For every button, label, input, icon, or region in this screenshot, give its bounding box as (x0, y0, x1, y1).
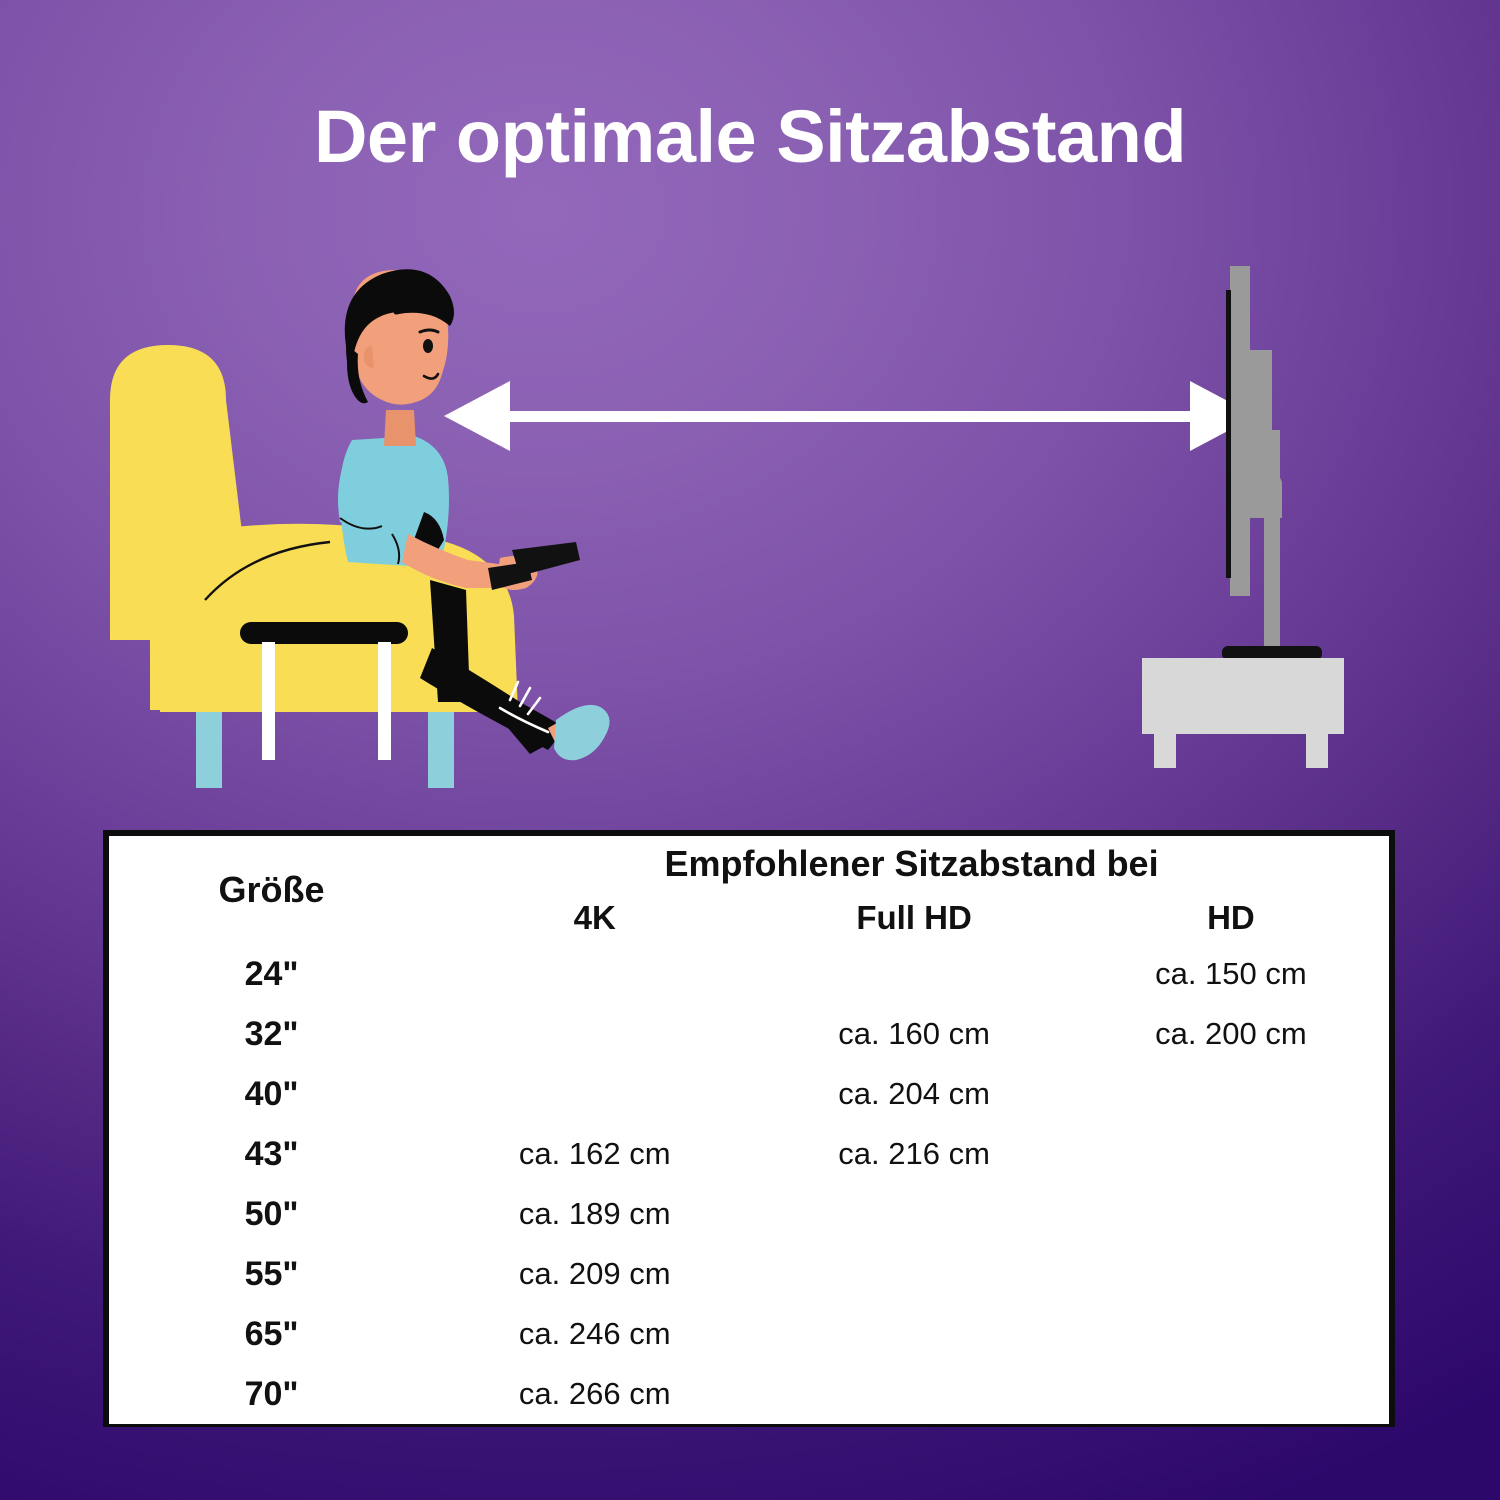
television-side-view (1142, 266, 1344, 768)
cell-fullhd: ca. 204 cm (755, 1064, 1072, 1124)
cell-hd (1073, 1124, 1389, 1184)
table-row: 32" ca. 160 cm ca. 200 cm (109, 1004, 1389, 1064)
header-group: Empfohlener Sitzabstand bei (434, 836, 1389, 892)
table-row: 65" ca. 246 cm (109, 1304, 1389, 1364)
header-hd: HD (1073, 892, 1389, 944)
table-header-group-row: Größe Empfohlener Sitzabstand bei (109, 836, 1389, 892)
cell-fullhd (755, 1244, 1072, 1304)
cell-4k (434, 944, 755, 1004)
table-row: 40" ca. 204 cm (109, 1064, 1389, 1124)
header-4k: 4K (434, 892, 755, 944)
table-row: 43" ca. 162 cm ca. 216 cm (109, 1124, 1389, 1184)
cell-4k (434, 1004, 755, 1064)
cell-4k (434, 1064, 755, 1124)
page-title: Der optimale Sitzabstand (0, 98, 1500, 176)
cell-4k: ca. 162 cm (434, 1124, 755, 1184)
cell-size: 43" (109, 1124, 434, 1184)
cell-fullhd (755, 944, 1072, 1004)
illustration-scene (0, 250, 1500, 790)
cell-size: 24" (109, 944, 434, 1004)
cell-size: 55" (109, 1244, 434, 1304)
cell-hd (1073, 1304, 1389, 1364)
cell-fullhd (755, 1304, 1072, 1364)
cell-size: 50" (109, 1184, 434, 1244)
remote-control (488, 542, 580, 590)
cell-hd: ca. 150 cm (1073, 944, 1389, 1004)
cell-hd (1073, 1364, 1389, 1424)
distance-table: Größe Empfohlener Sitzabstand bei 4K Ful… (103, 830, 1395, 1427)
cell-fullhd (755, 1364, 1072, 1424)
cell-size: 32" (109, 1004, 434, 1064)
cell-fullhd: ca. 216 cm (755, 1124, 1072, 1184)
infographic-poster: Der optimale Sitzabstand (0, 0, 1500, 1500)
cell-4k: ca. 209 cm (434, 1244, 755, 1304)
table-row: 50" ca. 189 cm (109, 1184, 1389, 1244)
cell-4k: ca. 266 cm (434, 1364, 755, 1424)
table-row: 70" ca. 266 cm (109, 1364, 1389, 1424)
cell-hd (1073, 1184, 1389, 1244)
cell-4k: ca. 189 cm (434, 1184, 755, 1244)
header-fullhd: Full HD (755, 892, 1072, 944)
cell-size: 40" (109, 1064, 434, 1124)
cell-size: 65" (109, 1304, 434, 1364)
table-row: 55" ca. 209 cm (109, 1244, 1389, 1304)
cell-hd (1073, 1244, 1389, 1304)
header-size: Größe (109, 836, 434, 944)
cell-fullhd (755, 1184, 1072, 1244)
table-row: 24" ca. 150 cm (109, 944, 1389, 1004)
cell-4k: ca. 246 cm (434, 1304, 755, 1364)
cell-size: 70" (109, 1364, 434, 1424)
cell-hd (1073, 1064, 1389, 1124)
cell-fullhd: ca. 160 cm (755, 1004, 1072, 1064)
distance-double-arrow (444, 381, 1256, 451)
cell-hd: ca. 200 cm (1073, 1004, 1389, 1064)
